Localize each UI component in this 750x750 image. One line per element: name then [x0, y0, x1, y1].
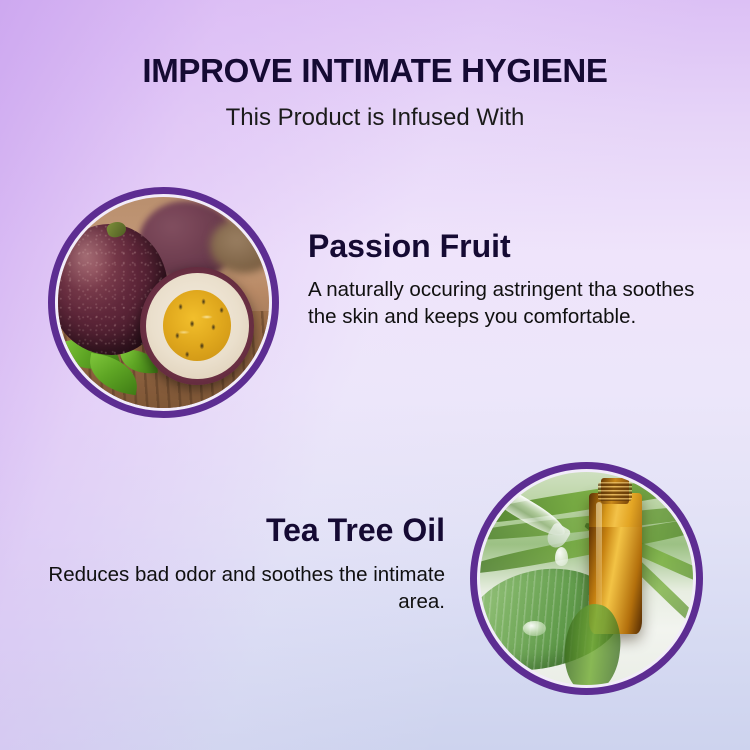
page-subtitle: This Product is Infused With [0, 90, 750, 132]
tea-tree-oil-heading: Tea Tree Oil [45, 512, 445, 549]
tea-tree-oil-description: Reduces bad odor and soothes the intimat… [45, 549, 445, 616]
passion-fruit-image [48, 187, 279, 418]
passion-fruit-image-inner [58, 197, 269, 408]
tea-tree-oil-image [470, 462, 703, 695]
passion-fruit-heading: Passion Fruit [308, 228, 700, 265]
page-title: IMPROVE INTIMATE HYGIENE [0, 0, 750, 90]
water-droplet-icon [523, 621, 546, 636]
background-blur-icon [210, 218, 269, 273]
infographic-canvas: IMPROVE INTIMATE HYGIENE This Product is… [0, 0, 750, 750]
header: IMPROVE INTIMATE HYGIENE This Product is… [0, 0, 750, 132]
passion-fruit-text-block: Passion Fruit A naturally occuring astri… [308, 228, 700, 331]
fruit-pulp-seeds [163, 290, 231, 361]
tea-tree-oil-scene [480, 472, 693, 685]
passion-fruit-description: A naturally occuring astringent tha soot… [308, 265, 700, 331]
tea-tree-oil-image-inner [480, 472, 693, 685]
halved-passion-fruit-icon [140, 267, 254, 385]
tea-tree-oil-text-block: Tea Tree Oil Reduces bad odor and soothe… [45, 512, 445, 616]
bottle-thread-icon [598, 482, 632, 501]
passion-fruit-scene [58, 197, 269, 408]
bottle-highlight [596, 502, 602, 620]
